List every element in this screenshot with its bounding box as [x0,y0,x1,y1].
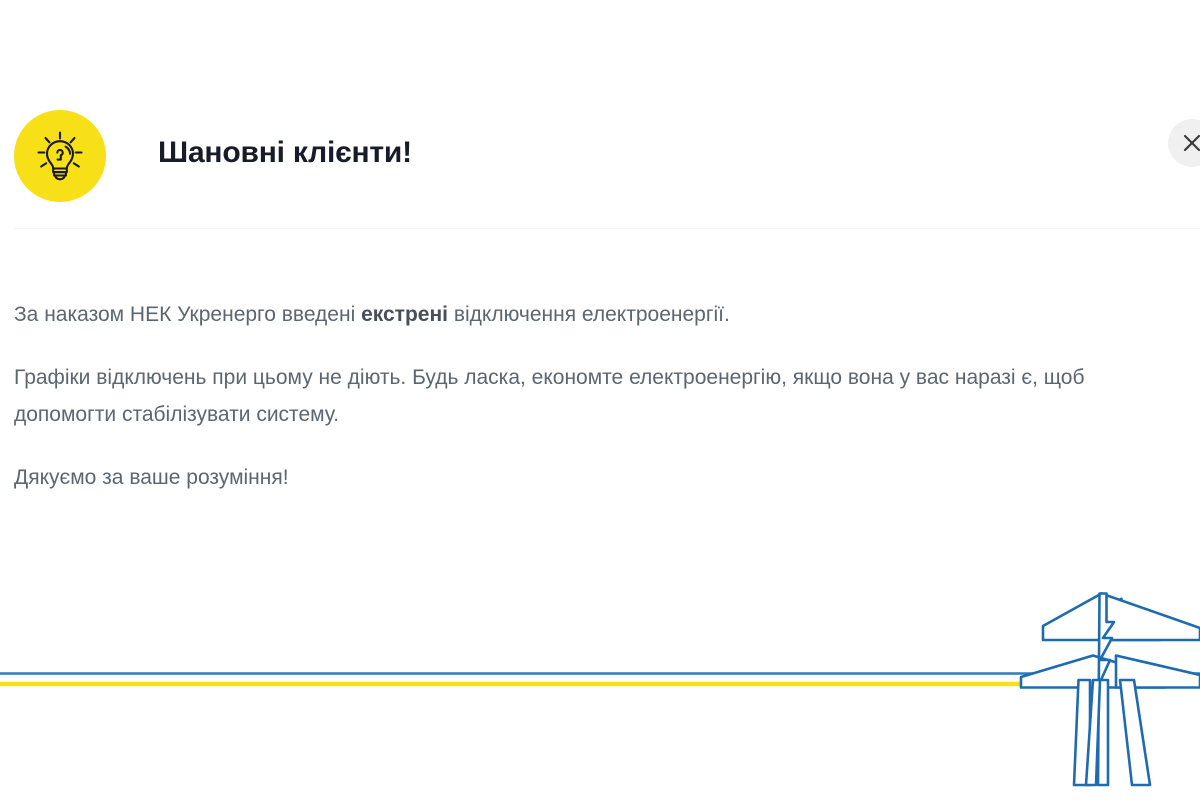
page-title: Шановні клієнти! [158,133,412,173]
lightbulb-icon-badge [14,110,106,202]
body-text: Дякуємо за ваше розуміння! [14,466,289,489]
header-divider [14,228,1200,229]
announcement-dialog: Шановні клієнти! За наказом НЕК Укренерг… [0,0,1200,800]
body-text: відключення електроенергії. [448,303,730,326]
body-text: Графіки відключень при цьому не діють. Б… [14,366,1085,426]
close-button[interactable] [1168,119,1200,167]
paragraph-3: Дякуємо за ваше розуміння! [14,459,1192,496]
lightbulb-icon [29,125,91,187]
dialog-body: За наказом НЕК Укренерго введені екстрен… [14,296,1192,496]
paragraph-2: Графіки відключень при цьому не діють. Б… [14,359,1192,433]
emphasis-text: екстрені [361,303,448,326]
power-transmission-tower-illustration [0,560,1200,800]
tower-outline [1021,594,1200,786]
paragraph-1: За наказом НЕК Укренерго введені екстрен… [14,296,1192,333]
body-text: За наказом НЕК Укренерго введені [14,303,361,326]
close-icon [1180,131,1200,155]
